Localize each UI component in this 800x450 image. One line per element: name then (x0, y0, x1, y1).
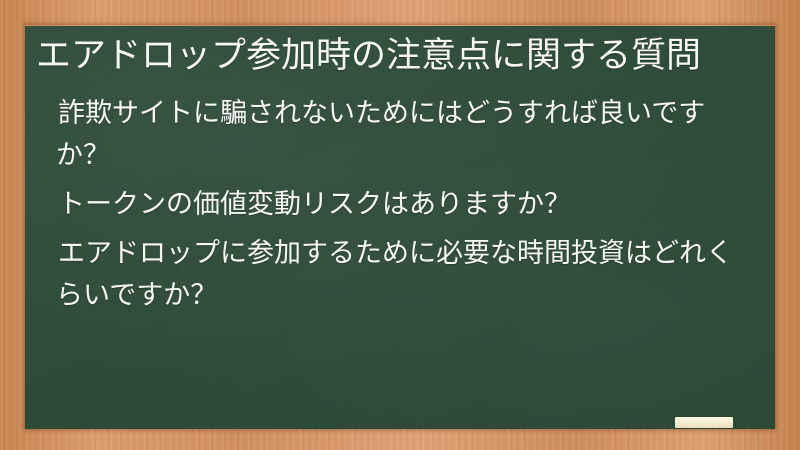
list-item: 詐欺サイトに騙されないためにはどうすれば良いですか？ (56, 92, 753, 176)
list-item: トークンの価値変動リスクはありますか？ (56, 183, 753, 225)
page-title: エアドロップ参加時の注意点に関する質問 (36, 34, 753, 78)
list-item: エアドロップに参加するために必要な時間投資はどれくらいですか？ (56, 232, 753, 316)
question-list: 詐欺サイトに騙されないためにはどうすれば良いですか？ トークンの価値変動リスクは… (36, 92, 753, 316)
chalkboard-content: エアドロップ参加時の注意点に関する質問 詐欺サイトに騙されないためにはどうすれば… (25, 26, 775, 429)
chalk-icon (675, 417, 733, 428)
chalkboard-slide: エアドロップ参加時の注意点に関する質問 詐欺サイトに騙されないためにはどうすれば… (0, 0, 800, 450)
chalkboard-surface: エアドロップ参加時の注意点に関する質問 詐欺サイトに騙されないためにはどうすれば… (25, 26, 775, 429)
